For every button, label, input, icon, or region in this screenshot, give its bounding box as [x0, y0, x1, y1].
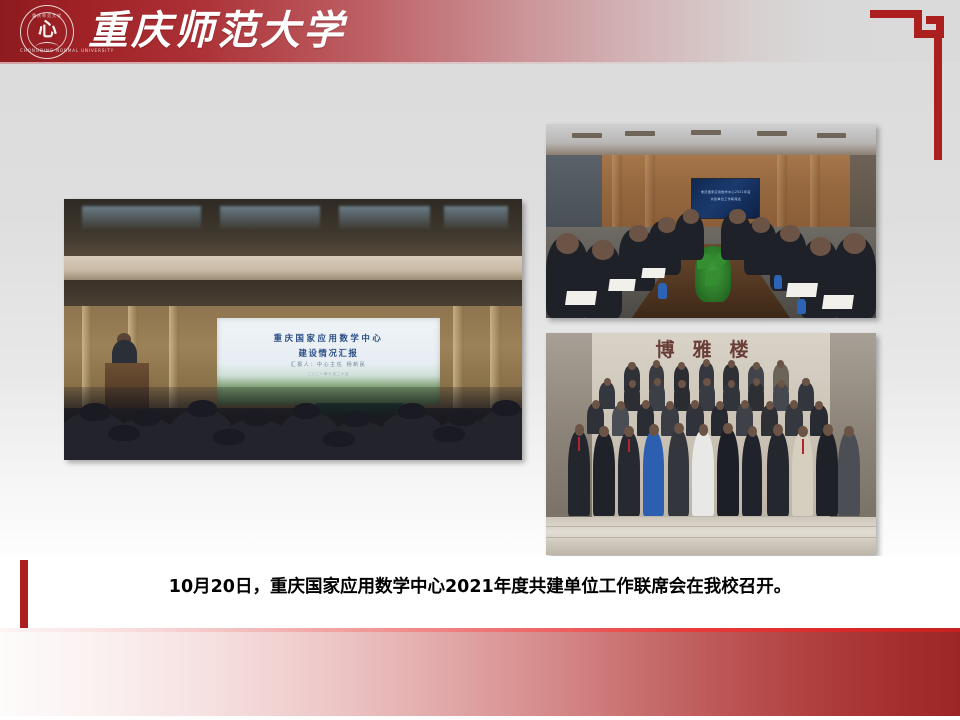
- footer-bottom-edge: [0, 716, 960, 720]
- group-photo: 博雅楼: [546, 333, 876, 555]
- conference-hall-photo: 重庆国家应用数学中心 建设情况汇报 汇报人：中心主任 杨新民 二○二一年十月二十…: [64, 199, 522, 460]
- hall-screen-title-line2: 建设情况汇报: [217, 347, 439, 359]
- university-seal-logo: 重庆师范大学 心 CHONGQING NORMAL UNIVERSITY: [20, 5, 74, 59]
- meeting-display-screen: 重庆国家应用数学中心2021年度 共建单位工作联席会: [691, 178, 760, 219]
- meeting-screen-line1: 重庆国家应用数学中心2021年度: [692, 189, 759, 194]
- group-attendees: [556, 362, 866, 526]
- meeting-ceiling: [546, 124, 876, 155]
- meeting-screen-line2: 共建单位工作联席会: [692, 196, 759, 201]
- seal-emblem-icon: 心: [38, 20, 56, 39]
- university-name-title: 重庆师范大学: [88, 6, 346, 56]
- meeting-right-wall: [850, 155, 876, 227]
- meeting-left-wall: [546, 155, 602, 227]
- footer-gradient-band: [0, 632, 960, 716]
- header-banner: 重庆师范大学 心 CHONGQING NORMAL UNIVERSITY 重庆师…: [0, 0, 960, 62]
- seal-ring-text-english: CHONGQING NORMAL UNIVERSITY: [20, 48, 74, 53]
- hall-soffit: [64, 256, 522, 279]
- slide-root: 重庆师范大学 心 CHONGQING NORMAL UNIVERSITY 重庆师…: [0, 0, 960, 720]
- hall-screen-title-line1: 重庆国家应用数学中心: [217, 332, 439, 344]
- hall-ceiling: [64, 199, 522, 256]
- hall-upper-wall: [64, 280, 522, 306]
- slide-caption: 10月20日，重庆国家应用数学中心2021年度共建单位工作联席会在我校召开。: [0, 575, 960, 599]
- group-wall-calligraphy: 博雅楼: [546, 335, 876, 362]
- hall-screen-footnote: 二○二一年十月二十日: [217, 371, 439, 376]
- corner-ornament-top-right-icon: [870, 10, 950, 160]
- header-underline: [0, 62, 960, 64]
- meeting-room-photo: 重庆国家应用数学中心2021年度 共建单位工作联席会: [546, 124, 876, 318]
- hall-screen-subtitle: 汇报人：中心主任 杨新民: [217, 361, 439, 368]
- group-floor: [546, 539, 876, 555]
- hall-audience: [64, 387, 522, 460]
